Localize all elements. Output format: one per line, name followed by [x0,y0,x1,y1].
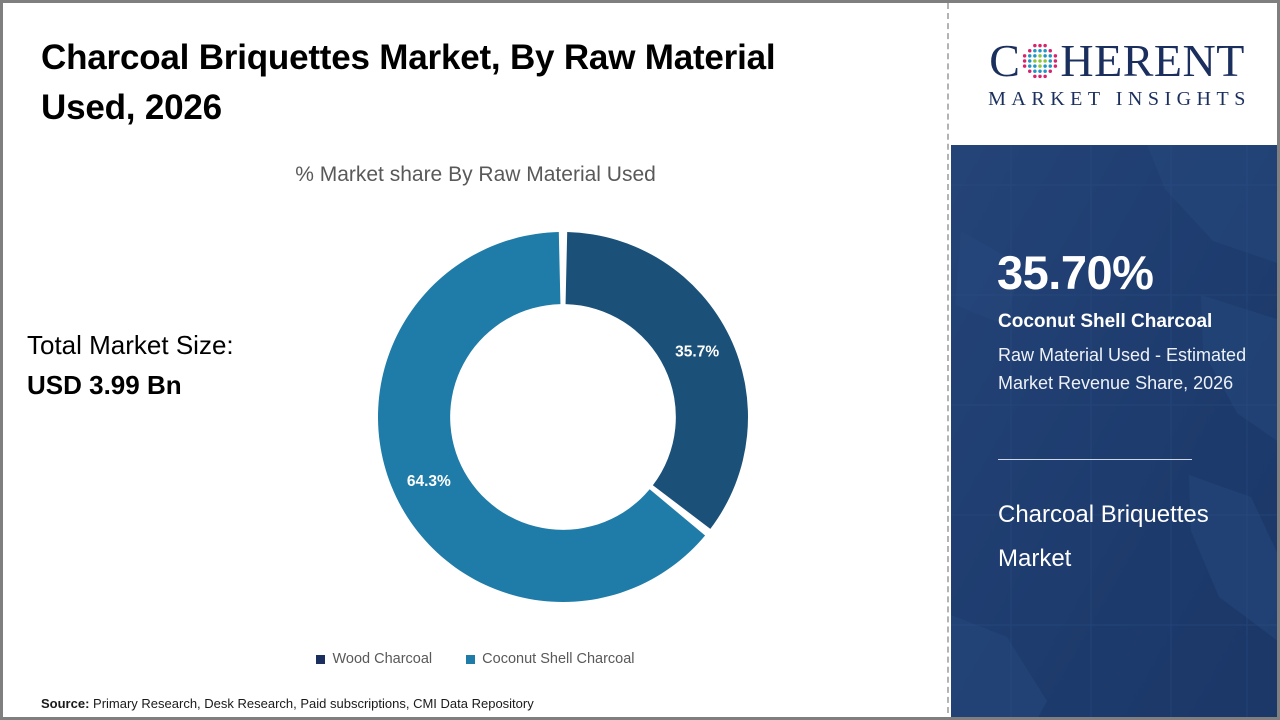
page-title: Charcoal Briquettes Market, By Raw Mater… [41,33,871,132]
chart-panel: Charcoal Briquettes Market, By Raw Mater… [3,3,948,720]
source-text: Primary Research, Desk Research, Paid su… [89,696,533,711]
total-market-value: USD 3.99 Bn [27,365,234,405]
panel-divider [947,3,949,720]
infographic-canvas: Charcoal Briquettes Market, By Raw Mater… [0,0,1280,720]
highlight-panel: C HERENT MARKET INSIGHTS [951,3,1280,720]
highlight-percent: 35.70% [997,245,1153,300]
chart-legend: Wood Charcoal Coconut Shell Charcoal [3,651,948,667]
highlight-description: Raw Material Used - Estimated Market Rev… [998,341,1248,398]
highlight-content: 35.70% Coconut Shell Charcoal Raw Materi… [951,145,1280,720]
globe-icon [1021,42,1059,80]
highlight-divider [998,459,1192,460]
donut-chart: 35.7% 64.3% [378,232,748,602]
brand-tagline: MARKET INSIGHTS [983,88,1251,111]
donut-chart-svg: 35.7% 64.3% [378,232,748,602]
brand-wordmark: C HERENT [989,38,1245,84]
brand-name-rest: HERENT [1060,38,1244,84]
slice-label-wood-charcoal: 64.3% [407,473,451,490]
legend-swatch-icon [466,655,475,664]
highlight-card: 35.70% Coconut Shell Charcoal Raw Materi… [951,145,1280,720]
source-note: Source: Primary Research, Desk Research,… [41,696,534,711]
highlight-headline: Coconut Shell Charcoal [998,311,1212,333]
highlight-market-name: Charcoal Briquettes Market [998,493,1256,582]
legend-item-wood-charcoal: Wood Charcoal [316,651,432,667]
legend-swatch-icon [316,655,325,664]
legend-label: Wood Charcoal [332,651,432,667]
chart-subtitle: % Market share By Raw Material Used [3,163,948,187]
slice-label-coconut-shell-charcoal: 35.7% [675,343,719,360]
total-market-label: Total Market Size: [27,325,234,365]
legend-item-coconut-shell-charcoal: Coconut Shell Charcoal [466,651,634,667]
source-label: Source: [41,696,89,711]
brand-name-first-letter: C [989,38,1020,84]
donut-slices [378,232,748,602]
legend-label: Coconut Shell Charcoal [482,651,634,667]
brand-logo: C HERENT MARKET INSIGHTS [951,3,1280,145]
donut-slice [566,232,748,529]
total-market-size: Total Market Size: USD 3.99 Bn [27,325,234,406]
